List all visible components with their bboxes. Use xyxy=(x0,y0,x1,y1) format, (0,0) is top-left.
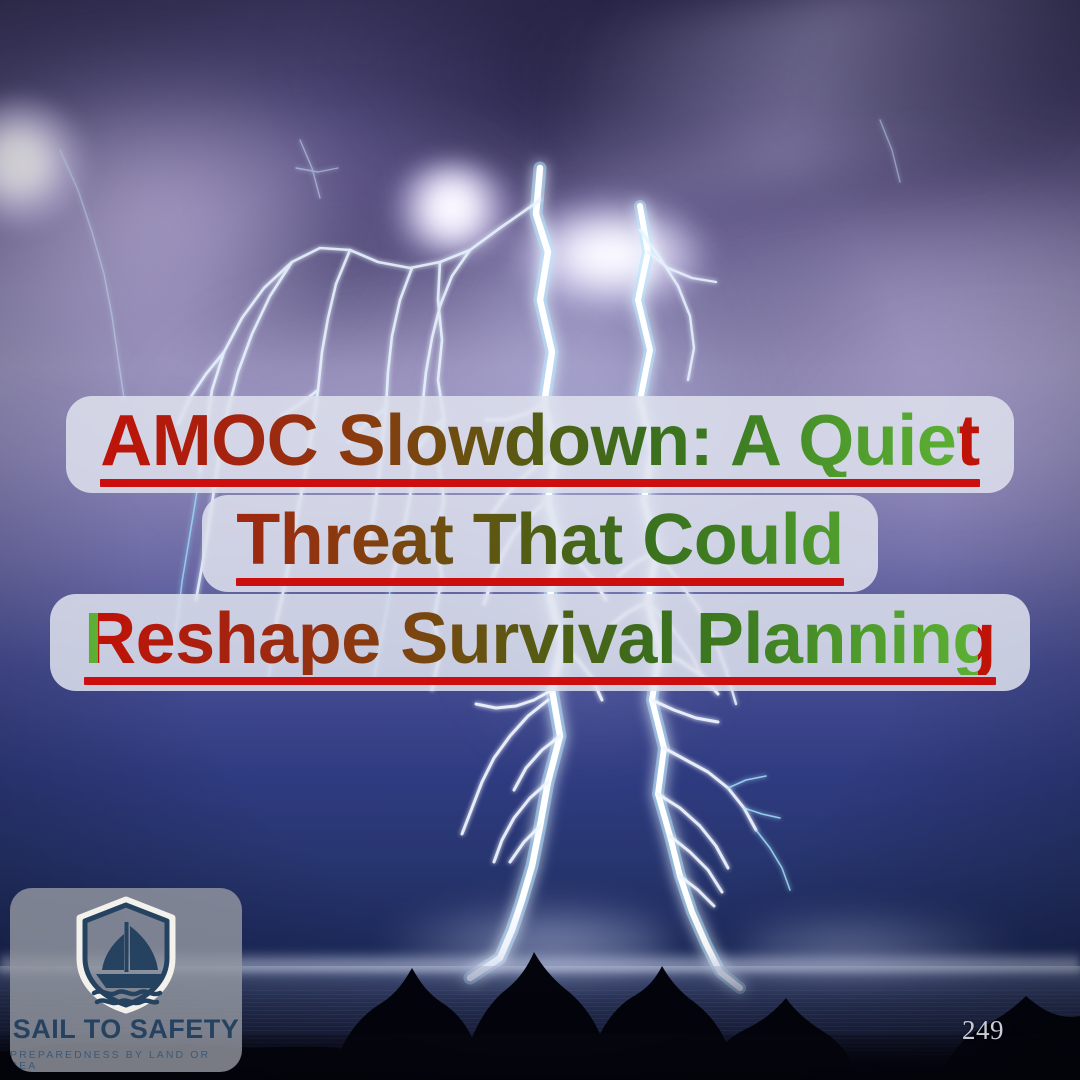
headline-line-1-text: AMOC Slowdown: A Quiet xyxy=(100,405,980,477)
headline-line-2-text: Threat That Could xyxy=(236,504,843,576)
page-number: 249 xyxy=(962,1015,1004,1046)
brand-wordmark: SAIL TO SAFETY xyxy=(13,1016,240,1043)
headline-line-3-text: Reshape Survival Planning xyxy=(84,603,996,675)
headline-underline xyxy=(100,479,980,487)
headline-line-1: AMOC Slowdown: A Quiet xyxy=(66,396,1014,493)
headline-underline xyxy=(84,677,996,685)
brand-logo-badge[interactable]: SAIL TO SAFETY PREPAREDNESS BY LAND OR S… xyxy=(10,888,242,1072)
social-card-canvas: AMOC Slowdown: A Quiet Threat That Could… xyxy=(0,0,1080,1080)
headline-underline xyxy=(236,578,843,586)
headline-line-2: Threat That Could xyxy=(202,495,877,592)
headline-line-3: Reshape Survival Planning xyxy=(50,594,1030,691)
headline-block: AMOC Slowdown: A Quiet Threat That Could… xyxy=(0,396,1080,691)
brand-tagline: PREPAREDNESS BY LAND OR SEA xyxy=(10,1050,242,1071)
shield-sailboat-icon xyxy=(72,896,180,1014)
